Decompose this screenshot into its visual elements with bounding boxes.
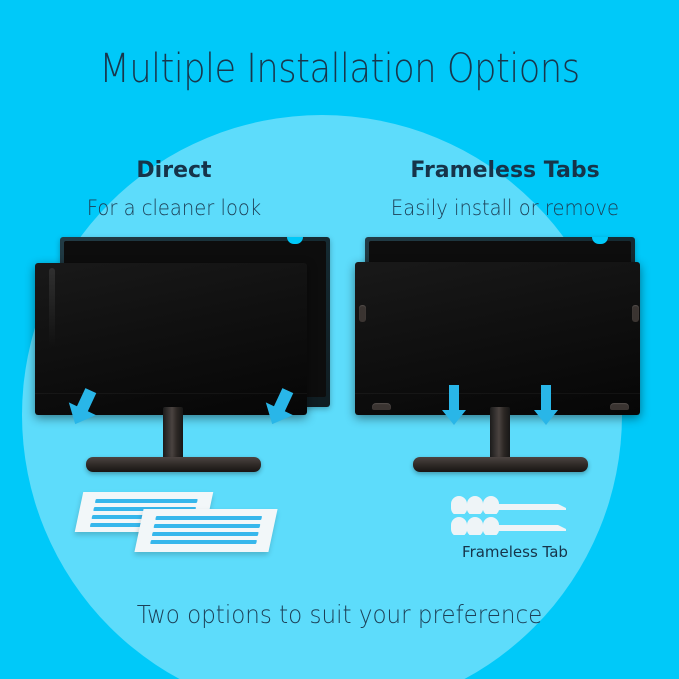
- arrow-down-icon-right-1: [440, 385, 468, 427]
- column-subtitle-frameless-tabs: Easily install or remove: [352, 196, 659, 220]
- strip-slot: [154, 524, 261, 528]
- monitor-stand-base-right: [413, 457, 588, 472]
- monitor-stand-neck-left: [163, 407, 183, 460]
- arrow-down-icon-right-2: [532, 385, 560, 427]
- arrow-down-icon-left-2: [255, 384, 301, 430]
- monitor-stand-base-left: [86, 457, 261, 472]
- infographic-canvas: Multiple Installation Options Direct For…: [0, 0, 679, 679]
- arrow-down-icon-left-1: [58, 384, 104, 430]
- column-heading-direct: Direct: [24, 158, 324, 183]
- privacy-filter-sheet-right: [355, 262, 640, 415]
- filter-highlight-right: [355, 393, 640, 394]
- strip-slot: [95, 499, 198, 503]
- strip-slot: [150, 540, 257, 544]
- column-subtitle-direct: For a cleaner look: [21, 196, 328, 220]
- frameless-tab-nub-right: [632, 305, 639, 322]
- frameless-tab-piece-1: [443, 494, 568, 514]
- adhesive-strip-sheet-2: [134, 509, 277, 552]
- filter-gloss-left: [49, 268, 55, 347]
- frameless-tab-caption: Frameless Tab: [400, 543, 630, 561]
- frameless-tab-nub-bottom-right: [610, 403, 629, 410]
- strip-slot: [152, 532, 259, 536]
- footer-caption: Two options to suit your preference: [27, 600, 652, 629]
- strip-slot: [155, 516, 262, 520]
- frameless-tab-nub-bottom-left: [372, 403, 391, 410]
- frameless-tab-nub-left: [359, 305, 366, 322]
- page-title: Multiple Installation Options: [41, 46, 639, 92]
- monitor-stand-neck-right: [490, 407, 510, 460]
- column-heading-frameless-tabs: Frameless Tabs: [355, 158, 655, 183]
- frameless-tab-piece-2: [443, 515, 568, 535]
